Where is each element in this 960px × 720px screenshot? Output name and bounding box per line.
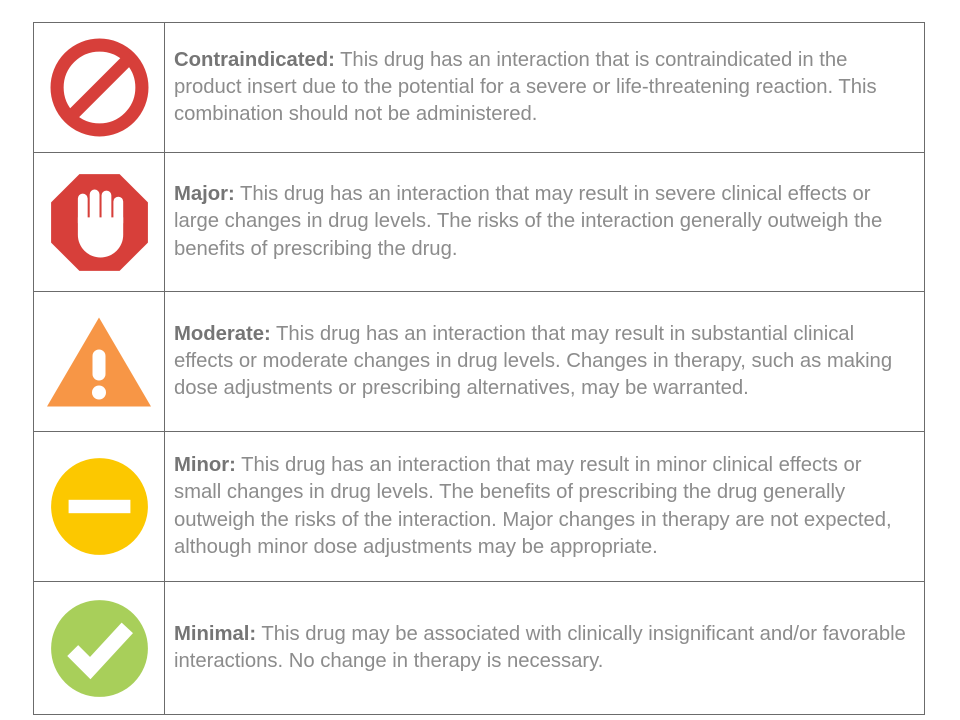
table-row: Minimal: This drug may be associated wit… — [34, 582, 924, 714]
table-row: Minor: This drug has an interaction that… — [34, 432, 924, 582]
severity-label: Major: — [174, 183, 235, 205]
icon-cell-minor — [34, 432, 165, 581]
stop-hand-octagon-icon — [48, 171, 151, 274]
text-cell-major: Major: This drug has an interaction that… — [165, 153, 924, 291]
table-row: Moderate: This drug has an interaction t… — [34, 292, 924, 432]
icon-cell-moderate — [34, 292, 165, 431]
severity-description: Moderate: This drug has an interaction t… — [174, 321, 910, 403]
severity-description: Minor: This drug has an interaction that… — [174, 452, 910, 561]
severity-label: Minimal: — [174, 623, 256, 645]
text-cell-minimal: Minimal: This drug may be associated wit… — [165, 582, 924, 714]
severity-description-text: This drug has an interaction that may re… — [174, 323, 892, 400]
severity-label: Contraindicated: — [174, 49, 335, 71]
text-cell-moderate: Moderate: This drug has an interaction t… — [165, 292, 924, 431]
text-cell-contraindicated: Contraindicated: This drug has an intera… — [165, 23, 924, 152]
table-row: Contraindicated: This drug has an intera… — [34, 23, 924, 153]
severity-label: Minor: — [174, 454, 236, 476]
severity-description-text: This drug has an interaction that may re… — [174, 183, 882, 260]
severity-legend-table: Contraindicated: This drug has an intera… — [33, 22, 925, 715]
icon-cell-minimal — [34, 582, 165, 714]
minus-circle-icon — [48, 455, 151, 558]
icon-cell-major — [34, 153, 165, 291]
severity-description: Contraindicated: This drug has an intera… — [174, 47, 910, 129]
text-cell-minor: Minor: This drug has an interaction that… — [165, 432, 924, 581]
severity-description: Major: This drug has an interaction that… — [174, 181, 910, 263]
check-circle-icon — [48, 597, 151, 700]
icon-cell-contraindicated — [34, 23, 165, 152]
table-row: Major: This drug has an interaction that… — [34, 153, 924, 292]
severity-description: Minimal: This drug may be associated wit… — [174, 621, 910, 676]
severity-description-text: This drug may be associated with clinica… — [174, 623, 906, 672]
warning-triangle-exclamation-icon — [43, 311, 155, 412]
severity-label: Moderate: — [174, 323, 271, 345]
no-entry-prohibition-icon — [49, 37, 150, 138]
severity-description-text: This drug has an interaction that may re… — [174, 454, 892, 558]
